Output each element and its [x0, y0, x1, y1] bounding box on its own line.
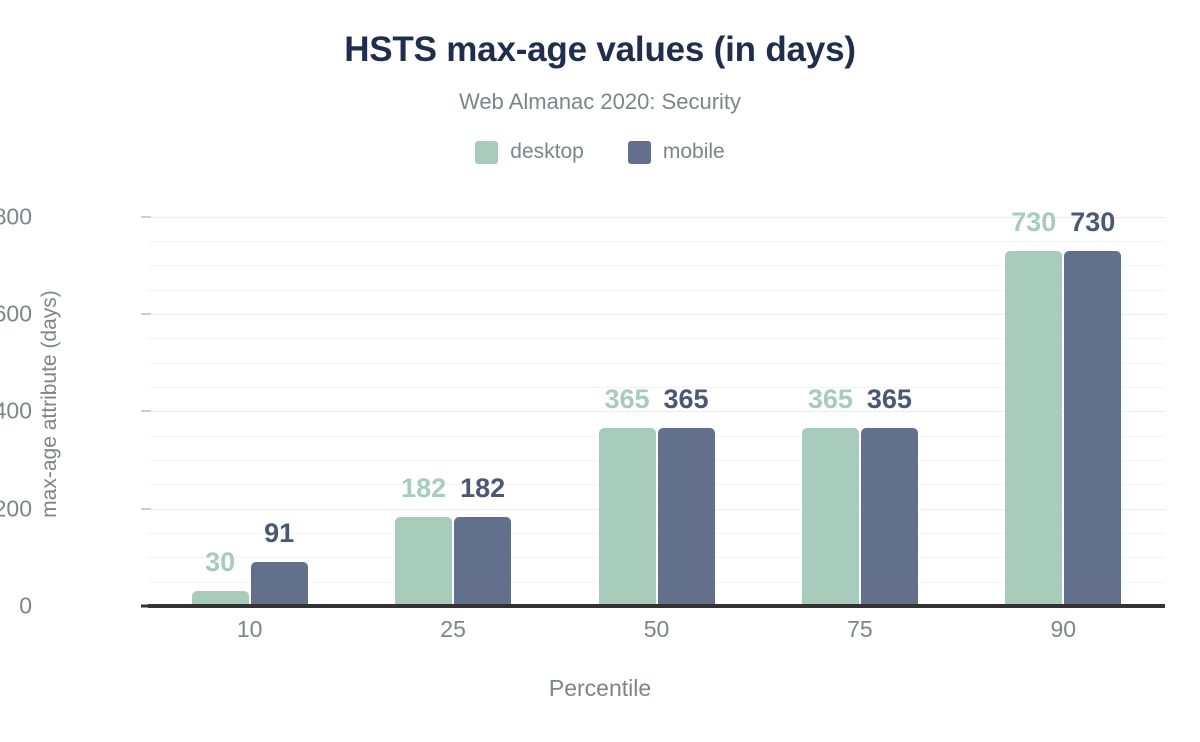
- legend-item-mobile[interactable]: mobile: [628, 140, 725, 164]
- bar-mobile-p25[interactable]: [454, 517, 511, 606]
- bar-value-label-desktop-p10: 30: [182, 547, 259, 578]
- chart-legend: desktopmobile: [0, 140, 1200, 164]
- x-tick-label-p90: 90: [1051, 616, 1077, 643]
- y-tick-label: 200: [0, 495, 32, 522]
- y-tick-label: 400: [0, 398, 32, 425]
- chart-subtitle: Web Almanac 2020: Security: [0, 89, 1200, 115]
- legend-item-desktop[interactable]: desktop: [475, 140, 584, 164]
- bar-mobile-p75[interactable]: [861, 428, 918, 606]
- plot-area: 3091182182365365365365730730: [148, 202, 1165, 606]
- bar-desktop-p75[interactable]: [802, 428, 859, 606]
- y-tick-mark: [141, 313, 151, 315]
- y-tick-label: 600: [0, 300, 32, 327]
- legend-swatch-desktop: [475, 141, 498, 164]
- y-tick-mark: [141, 216, 151, 218]
- y-tick-mark: [141, 410, 151, 412]
- x-tick-label-p50: 50: [644, 616, 670, 643]
- y-tick-label: 0: [0, 593, 32, 620]
- bar-mobile-p10[interactable]: [251, 562, 308, 606]
- y-tick-label: 800: [0, 203, 32, 230]
- y-axis-title: max-age attribute (days): [38, 202, 62, 606]
- bar-value-label-mobile-p75: 365: [851, 384, 928, 415]
- y-tick-mark: [141, 605, 151, 608]
- bar-desktop-p50[interactable]: [599, 428, 656, 606]
- chart-title: HSTS max-age values (in days): [0, 30, 1200, 70]
- x-axis-baseline: [148, 604, 1165, 608]
- bar-desktop-p25[interactable]: [395, 517, 452, 606]
- bar-value-label-mobile-p25: 182: [444, 473, 521, 504]
- bar-chart: HSTS max-age values (in days) Web Almana…: [0, 0, 1200, 742]
- bar-mobile-p50[interactable]: [658, 428, 715, 606]
- legend-label-desktop: desktop: [510, 140, 584, 164]
- x-tick-label-p10: 10: [237, 616, 263, 643]
- bar-value-label-mobile-p90: 730: [1054, 207, 1131, 238]
- bar-desktop-p90[interactable]: [1005, 251, 1062, 606]
- y-tick-mark: [141, 508, 151, 510]
- legend-swatch-mobile: [628, 141, 651, 164]
- bars-layer: 3091182182365365365365730730: [148, 202, 1165, 606]
- legend-label-mobile: mobile: [663, 140, 725, 164]
- bar-value-label-mobile-p10: 91: [241, 518, 318, 549]
- x-tick-label-p25: 25: [440, 616, 466, 643]
- x-axis-title: Percentile: [0, 675, 1200, 702]
- bar-value-label-mobile-p50: 365: [648, 384, 725, 415]
- bar-mobile-p90[interactable]: [1064, 251, 1121, 606]
- x-tick-label-p75: 75: [847, 616, 873, 643]
